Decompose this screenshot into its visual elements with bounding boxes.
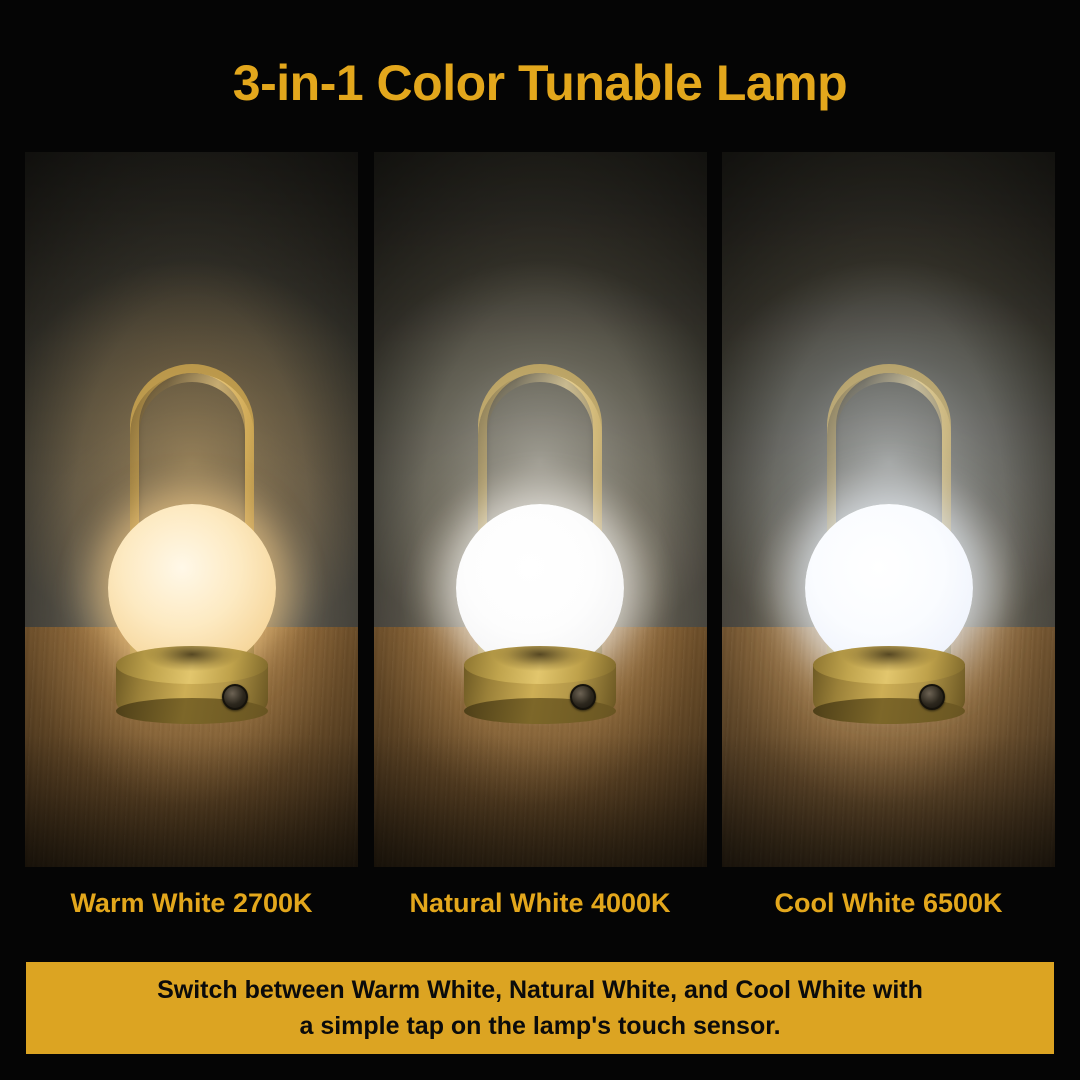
touch-sensor-button-icon[interactable] [919,684,945,710]
bottom-banner: Switch between Warm White, Natural White… [26,962,1054,1054]
touch-sensor-button-icon[interactable] [222,684,248,710]
lamp-base [813,646,965,724]
product-panel-cool-white[interactable] [722,152,1055,867]
lamp-base [464,646,616,724]
lamp-base-top-disc [813,646,965,684]
caption-warm-white: Warm White 2700K [25,880,358,926]
caption-natural-white: Natural White 4000K [374,880,707,926]
infographic-root: 3-in-1 Color Tunable Lamp [0,0,1080,1080]
product-panel-warm-white[interactable] [25,152,358,867]
product-panel-row [25,152,1055,867]
banner-line-2: a simple tap on the lamp's touch sensor. [299,1008,780,1044]
product-panel-natural-white[interactable] [374,152,707,867]
lamp-product-cool-white [794,364,984,724]
caption-row: Warm White 2700K Natural White 4000K Coo… [25,880,1055,926]
lamp-base-top-disc [464,646,616,684]
lamp-base-top-disc [116,646,268,684]
caption-cool-white: Cool White 6500K [722,880,1055,926]
lamp-base [116,646,268,724]
touch-sensor-button-icon[interactable] [570,684,596,710]
lamp-product-warm-white [97,364,287,724]
lamp-product-natural-white [445,364,635,724]
banner-line-1: Switch between Warm White, Natural White… [157,972,923,1008]
page-title: 3-in-1 Color Tunable Lamp [0,56,1080,111]
